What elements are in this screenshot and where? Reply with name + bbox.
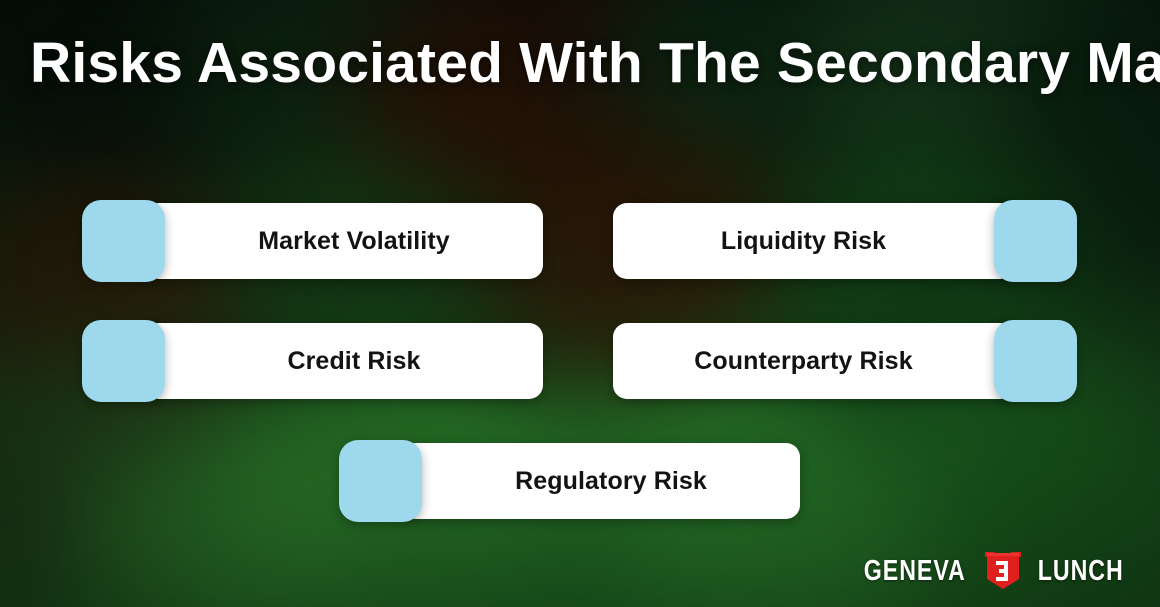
- card-body: Regulatory Risk: [402, 443, 800, 519]
- card-accent-block: [82, 320, 165, 402]
- card-body: Liquidity Risk: [613, 203, 1014, 279]
- logo-g-badge-icon: [985, 551, 1021, 591]
- card-accent-block: [82, 200, 165, 282]
- risk-card-regulatory-risk: Regulatory Risk: [339, 440, 800, 522]
- risk-card-credit-risk: Credit Risk: [82, 320, 543, 402]
- card-label: Counterparty Risk: [694, 347, 912, 376]
- risk-card-market-volatility: Market Volatility: [82, 200, 543, 282]
- logo-word-lunch: LUNCH: [1037, 555, 1123, 588]
- card-accent-block: [339, 440, 422, 522]
- card-accent-block: [994, 320, 1077, 402]
- page-title: Risks Associated With The Secondary Mark…: [30, 28, 1130, 98]
- risk-card-liquidity-risk: Liquidity Risk: [613, 200, 1077, 282]
- card-label: Credit Risk: [287, 347, 420, 376]
- infographic-slide: Risks Associated With The Secondary Mark…: [0, 0, 1160, 607]
- card-label: Market Volatility: [258, 227, 450, 256]
- card-label: Liquidity Risk: [721, 227, 886, 256]
- card-accent-block: [994, 200, 1077, 282]
- brand-logo: GENEVA LUNCH: [851, 551, 1134, 591]
- card-label: Regulatory Risk: [515, 467, 707, 496]
- card-body: Credit Risk: [145, 323, 543, 399]
- risk-card-counterparty-risk: Counterparty Risk: [613, 320, 1077, 402]
- card-body: Counterparty Risk: [613, 323, 1014, 399]
- logo-word-geneva: GENEVA: [864, 555, 966, 588]
- card-body: Market Volatility: [145, 203, 543, 279]
